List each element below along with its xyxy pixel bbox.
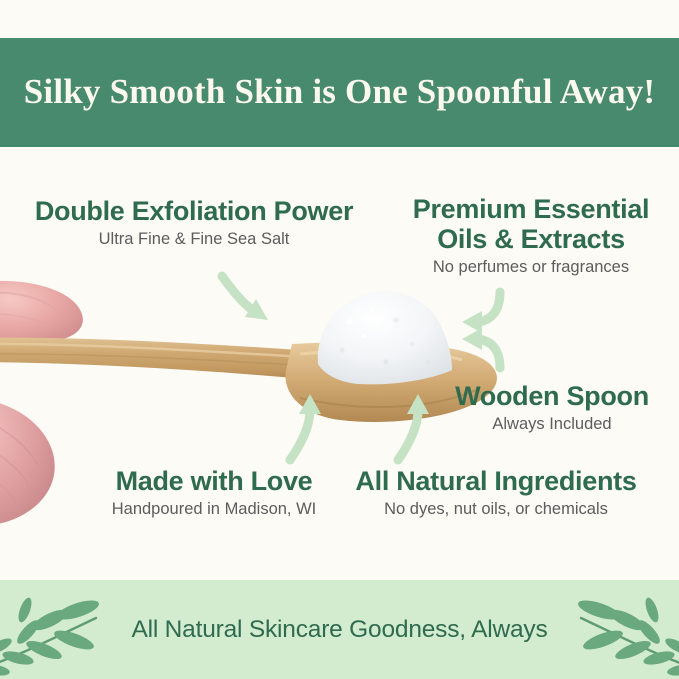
- arrow-left-lower-icon: [462, 328, 500, 368]
- feature-title: Double Exfoliation Power: [14, 196, 374, 226]
- arrow-up-left-icon: [290, 394, 321, 460]
- salt-scrub-mound: [318, 291, 452, 384]
- feature-subtitle: Always Included: [437, 414, 667, 435]
- feature-title: Made with Love: [75, 466, 353, 496]
- finger-shape: [0, 398, 55, 528]
- arrow-left-upper-icon: [462, 292, 500, 333]
- feature-title-line-1: Premium Essential: [395, 194, 667, 224]
- infographic-root: Silky Smooth Skin is One Spoonful Away!: [0, 0, 679, 679]
- footer-banner: All Natural Skincare Goodness, Always: [0, 580, 679, 679]
- feature-all-natural-ingredients: All Natural Ingredients No dyes, nut oil…: [336, 466, 656, 521]
- arrow-down-right-icon: [222, 276, 268, 320]
- feature-title: Wooden Spoon: [437, 381, 667, 411]
- footer-tagline: All Natural Skincare Goodness, Always: [131, 616, 547, 644]
- olive-branch-icon-right: [535, 580, 679, 679]
- feature-subtitle: No dyes, nut oils, or chemicals: [336, 499, 656, 520]
- feature-made-with-love: Made with Love Handpoured in Madison, WI: [75, 466, 353, 521]
- page-title: Silky Smooth Skin is One Spoonful Away!: [24, 73, 656, 112]
- feature-subtitle: No perfumes or fragrances: [395, 257, 667, 278]
- header-banner: Silky Smooth Skin is One Spoonful Away!: [0, 38, 679, 147]
- feature-title: All Natural Ingredients: [336, 466, 656, 496]
- feature-premium-essential-oils: Premium Essential Oils & Extracts No per…: [395, 194, 667, 279]
- feature-double-exfoliation-power: Double Exfoliation Power Ultra Fine & Fi…: [14, 196, 374, 251]
- thumb-shape: [0, 281, 83, 346]
- feature-subtitle: Ultra Fine & Fine Sea Salt: [14, 229, 374, 250]
- arrow-up-right-icon: [398, 394, 429, 460]
- olive-branch-icon-left: [0, 580, 142, 679]
- spoon-handle: [0, 338, 470, 388]
- feature-title-line-2: Oils & Extracts: [395, 224, 667, 254]
- feature-wooden-spoon: Wooden Spoon Always Included: [437, 381, 667, 436]
- feature-subtitle: Handpoured in Madison, WI: [75, 499, 353, 520]
